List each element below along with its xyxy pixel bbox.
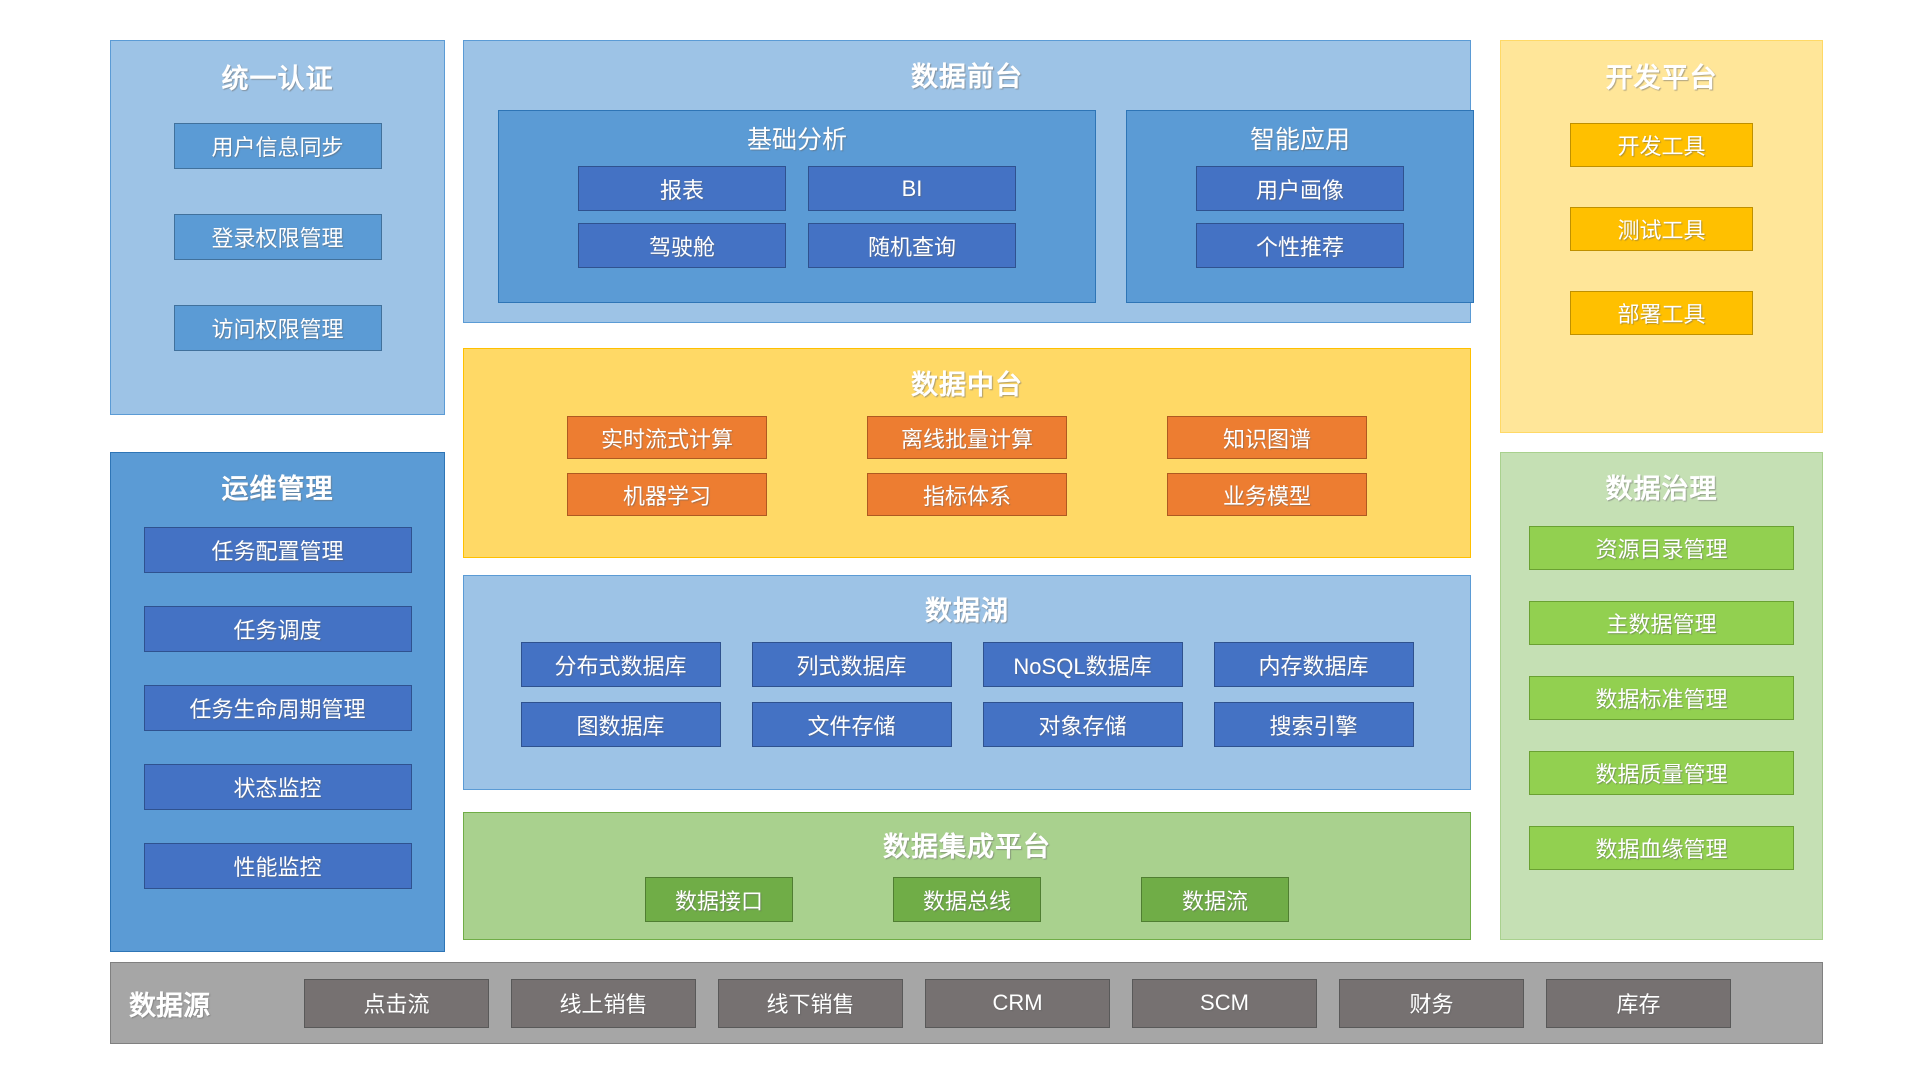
- chip-data-standard-mgmt[interactable]: 数据标准管理: [1529, 676, 1794, 720]
- chip-data-lineage-mgmt[interactable]: 数据血缘管理: [1529, 826, 1794, 870]
- group-title-smart-application: 智能应用: [1127, 120, 1473, 156]
- panel-dev-platform: 开发平台 开发工具 测试工具 部署工具: [1500, 40, 1823, 433]
- chip-deployment-tools[interactable]: 部署工具: [1570, 291, 1753, 335]
- chip-metric-system[interactable]: 指标体系: [867, 473, 1067, 516]
- chip-distributed-database[interactable]: 分布式数据库: [521, 642, 721, 687]
- panel-title-unified-auth: 统一认证: [111, 57, 444, 96]
- group-smart-application-items: 用户画像 个性推荐: [1127, 166, 1473, 268]
- chip-columnar-database[interactable]: 列式数据库: [752, 642, 952, 687]
- chip-data-bus[interactable]: 数据总线: [893, 877, 1041, 922]
- panel-title-data-governance: 数据治理: [1501, 467, 1822, 506]
- chip-online-sales[interactable]: 线上销售: [511, 979, 696, 1028]
- chip-business-model[interactable]: 业务模型: [1167, 473, 1367, 516]
- chip-task-config-mgmt[interactable]: 任务配置管理: [144, 527, 412, 573]
- chip-report[interactable]: 报表: [578, 166, 786, 211]
- chip-user-info-sync[interactable]: 用户信息同步: [174, 123, 382, 169]
- chip-crm[interactable]: CRM: [925, 979, 1110, 1028]
- architecture-diagram: 统一认证 用户信息同步 登录权限管理 访问权限管理 运维管理 任务配置管理 任务…: [0, 0, 1920, 1080]
- chip-development-tools[interactable]: 开发工具: [1570, 123, 1753, 167]
- panel-title-data-source: 数据源: [129, 984, 304, 1023]
- chip-offline-batch-computing[interactable]: 离线批量计算: [867, 416, 1067, 459]
- chip-data-stream[interactable]: 数据流: [1141, 877, 1289, 922]
- chip-master-data-mgmt[interactable]: 主数据管理: [1529, 601, 1794, 645]
- panel-data-integration-platform: 数据集成平台 数据接口 数据总线 数据流: [463, 812, 1471, 940]
- chip-inventory[interactable]: 库存: [1546, 979, 1731, 1028]
- group-basic-analysis-items: 报表 BI 驾驶舱 随机查询: [499, 166, 1095, 268]
- group-title-basic-analysis: 基础分析: [499, 120, 1095, 156]
- chip-graph-database[interactable]: 图数据库: [521, 702, 721, 747]
- chip-realtime-stream-computing[interactable]: 实时流式计算: [567, 416, 767, 459]
- chip-access-permission-mgmt[interactable]: 访问权限管理: [174, 305, 382, 351]
- panel-unified-auth: 统一认证 用户信息同步 登录权限管理 访问权限管理: [110, 40, 445, 415]
- panel-data-source: 数据源 点击流 线上销售 线下销售 CRM SCM 财务 库存: [110, 962, 1823, 1044]
- chip-task-lifecycle-mgmt[interactable]: 任务生命周期管理: [144, 685, 412, 731]
- chip-task-scheduling[interactable]: 任务调度: [144, 606, 412, 652]
- group-smart-application: 智能应用 用户画像 个性推荐: [1126, 110, 1474, 303]
- chip-adhoc-query[interactable]: 随机查询: [808, 223, 1016, 268]
- group-basic-analysis: 基础分析 报表 BI 驾驶舱 随机查询: [498, 110, 1096, 303]
- chip-data-quality-mgmt[interactable]: 数据质量管理: [1529, 751, 1794, 795]
- chip-clickstream[interactable]: 点击流: [304, 979, 489, 1028]
- chip-bi[interactable]: BI: [808, 166, 1016, 211]
- panel-title-dev-platform: 开发平台: [1501, 56, 1822, 95]
- panel-data-midend: 数据中台 实时流式计算 离线批量计算 知识图谱 机器学习 指标体系 业务模型: [463, 348, 1471, 558]
- chip-finance[interactable]: 财务: [1339, 979, 1524, 1028]
- data-source-items: 点击流 线上销售 线下销售 CRM SCM 财务 库存: [304, 979, 1731, 1028]
- chip-testing-tools[interactable]: 测试工具: [1570, 207, 1753, 251]
- chip-nosql-database[interactable]: NoSQL数据库: [983, 642, 1183, 687]
- chip-resource-catalog-mgmt[interactable]: 资源目录管理: [1529, 526, 1794, 570]
- chip-login-permission-mgmt[interactable]: 登录权限管理: [174, 214, 382, 260]
- chip-performance-monitoring[interactable]: 性能监控: [144, 843, 412, 889]
- panel-data-governance: 数据治理 资源目录管理 主数据管理 数据标准管理 数据质量管理 数据血缘管理: [1500, 452, 1823, 940]
- chip-status-monitoring[interactable]: 状态监控: [144, 764, 412, 810]
- chip-knowledge-graph[interactable]: 知识图谱: [1167, 416, 1367, 459]
- chip-search-engine[interactable]: 搜索引擎: [1214, 702, 1414, 747]
- chip-object-storage[interactable]: 对象存储: [983, 702, 1183, 747]
- panel-title-data-midend: 数据中台: [464, 363, 1470, 402]
- chip-scm[interactable]: SCM: [1132, 979, 1317, 1028]
- panel-title-data-lake: 数据湖: [464, 589, 1470, 628]
- data-midend-items: 实时流式计算 离线批量计算 知识图谱 机器学习 指标体系 业务模型: [464, 416, 1470, 516]
- chip-data-interface[interactable]: 数据接口: [645, 877, 793, 922]
- chip-in-memory-database[interactable]: 内存数据库: [1214, 642, 1414, 687]
- panel-title-data-frontend: 数据前台: [464, 55, 1470, 94]
- panel-title-ops-management: 运维管理: [111, 467, 444, 506]
- panel-title-data-integration-platform: 数据集成平台: [464, 825, 1470, 864]
- chip-file-storage[interactable]: 文件存储: [752, 702, 952, 747]
- panel-data-frontend: 数据前台 基础分析 报表 BI 驾驶舱 随机查询 智能应用 用户画像 个性推荐: [463, 40, 1471, 323]
- panel-data-lake: 数据湖 分布式数据库 列式数据库 NoSQL数据库 内存数据库 图数据库 文件存…: [463, 575, 1471, 790]
- chip-offline-sales[interactable]: 线下销售: [718, 979, 903, 1028]
- chip-machine-learning[interactable]: 机器学习: [567, 473, 767, 516]
- chip-cockpit[interactable]: 驾驶舱: [578, 223, 786, 268]
- panel-ops-management: 运维管理 任务配置管理 任务调度 任务生命周期管理 状态监控 性能监控: [110, 452, 445, 952]
- data-lake-items: 分布式数据库 列式数据库 NoSQL数据库 内存数据库 图数据库 文件存储 对象…: [464, 642, 1470, 747]
- data-integration-items: 数据接口 数据总线 数据流: [464, 877, 1470, 922]
- chip-user-profile[interactable]: 用户画像: [1196, 166, 1404, 211]
- chip-personalized-recommendation[interactable]: 个性推荐: [1196, 223, 1404, 268]
